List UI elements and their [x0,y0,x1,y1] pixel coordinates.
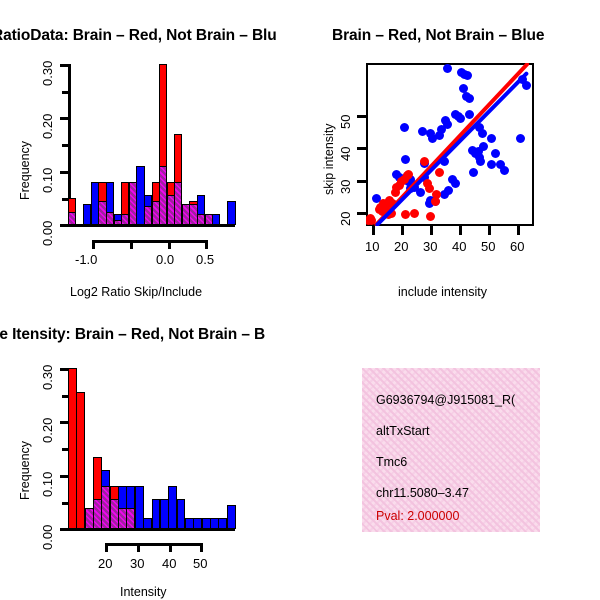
ratio-hist-xtick-label: 0.0 [156,252,174,267]
intensity-hist-xtick [200,543,203,552]
scatter-point [400,123,409,132]
scatter-xtick [488,226,491,235]
info-probe-id: G6936794@J915081_R( [376,393,515,407]
scatter-point [487,160,496,169]
ratio-hist-title: RatioData: Brain – Red, Not Brain – Blu [0,27,277,45]
scatter-ytick-label: 20 [338,212,353,226]
info-gene: Tmc6 [376,455,407,469]
intensity-hist-xtick-label: 40 [162,556,176,571]
scatter-point [516,134,525,143]
scatter-xtick [430,226,433,235]
scatter-ytick [357,180,366,183]
scatter-xtick-label: 20 [394,239,408,254]
intensity-hist-xtick [105,543,108,552]
panel-ratio-histogram: RatioData: Brain – Red, Not Brain – Blu … [0,0,300,300]
histogram-bar [227,505,236,529]
info-event-type: altTxStart [376,424,430,438]
ratio-hist-ylabel: Frequency [18,141,32,200]
scatter-ytick [357,212,366,215]
scatter-point [443,64,452,73]
intensity-hist-xlabel: Intensity [120,585,167,599]
ratio-hist-xtick-label: -1.0 [75,252,97,267]
ratio-hist-xtick [130,240,133,249]
scatter-point [478,129,487,138]
scatter-ytick [357,147,366,150]
panel-intensity-histogram: ne Itensity: Brain – Red, Not Brain – B … [0,300,300,600]
scatter-ylabel: skip intensity [322,123,336,195]
histogram-bar [68,212,76,225]
ratio-hist-xtick [168,240,171,249]
intensity-hist-ytick-label: 0.10 [40,472,55,497]
panel-info: G6936794@J915081_R( altTxStart Tmc6 chr1… [300,300,600,600]
scatter-xlabel: include intensity [398,285,487,299]
intensity-hist-x-axis [105,543,203,546]
scatter-xtick-label: 10 [365,239,379,254]
intensity-hist-title: ne Itensity: Brain – Red, Not Brain – B [0,326,265,344]
ratio-hist-ytick-label: 0.00 [40,221,55,246]
scatter-point [463,71,472,80]
histogram-bar [212,214,220,225]
scatter-point [435,168,444,177]
info-locus: chr11.5080–3.47 [376,486,469,500]
scatter-title: Brain – Red, Not Brain – Blue [332,27,544,45]
scatter-point [476,157,485,166]
ratio-hist-xtick [92,240,95,249]
scatter-xtick [517,226,520,235]
intensity-hist-xtick [137,543,140,552]
scatter-point [401,210,410,219]
intensity-hist-bars [68,368,235,529]
scatter-xtick-label: 40 [452,239,466,254]
scatter-point [471,149,480,158]
ratio-hist-xtick-label: 0.5 [196,252,214,267]
scatter-point [487,134,496,143]
scatter-xtick-label: 50 [481,239,495,254]
intensity-hist-ytick-label: 0.30 [40,365,55,390]
intensity-hist-ylabel: Frequency [18,441,32,500]
ratio-hist-xtick [205,240,208,249]
scatter-xtick [372,226,375,235]
scatter-point [444,186,453,195]
ratio-hist-ytick-label: 0.30 [40,61,55,86]
panel-scatter: Brain – Red, Not Brain – Blue skip inten… [300,0,600,300]
regression-line [375,71,530,226]
scatter-point [416,188,425,197]
intensity-hist-ytick-label: 0.20 [40,418,55,443]
scatter-points-layer [366,63,534,226]
info-box: G6936794@J915081_R( altTxStart Tmc6 chr1… [362,368,540,532]
scatter-point [491,149,500,158]
scatter-point [410,209,419,218]
scatter-point [401,155,410,164]
scatter-point [456,114,465,123]
scatter-point [426,212,435,221]
intensity-hist-ytick-label: 0.00 [40,525,55,550]
histogram-bar [227,201,235,225]
scatter-ytick-label: 40 [338,147,353,161]
scatter-xtick-label: 30 [423,239,437,254]
ratio-hist-ytick-label: 0.20 [40,114,55,139]
scatter-point [418,127,427,136]
scatter-ytick-label: 30 [338,180,353,194]
scatter-point [451,179,460,188]
intensity-hist-xtick-label: 20 [98,556,112,571]
scatter-point [469,168,478,177]
scatter-point [431,197,440,206]
scatter-point [404,170,413,179]
scatter-point [465,94,474,103]
intensity-hist-xtick [169,543,172,552]
scatter-point [437,125,446,134]
ratio-hist-x-axis [92,240,208,243]
scatter-ytick [357,115,366,118]
scatter-xtick [401,226,404,235]
intensity-hist-xtick-label: 30 [130,556,144,571]
ratio-hist-xlabel: Log2 Ratio Skip/Include [70,285,202,299]
scatter-point [500,166,509,175]
figure-canvas: RatioData: Brain – Red, Not Brain – Blu … [0,0,600,600]
ratio-hist-ytick-label: 0.10 [40,168,55,193]
intensity-hist-xtick-label: 50 [193,556,207,571]
info-pval: Pval: 2.000000 [376,509,459,523]
scatter-xtick-label: 60 [510,239,524,254]
ratio-hist-bars [68,64,235,225]
scatter-ytick-label: 50 [338,115,353,129]
scatter-xtick [459,226,462,235]
